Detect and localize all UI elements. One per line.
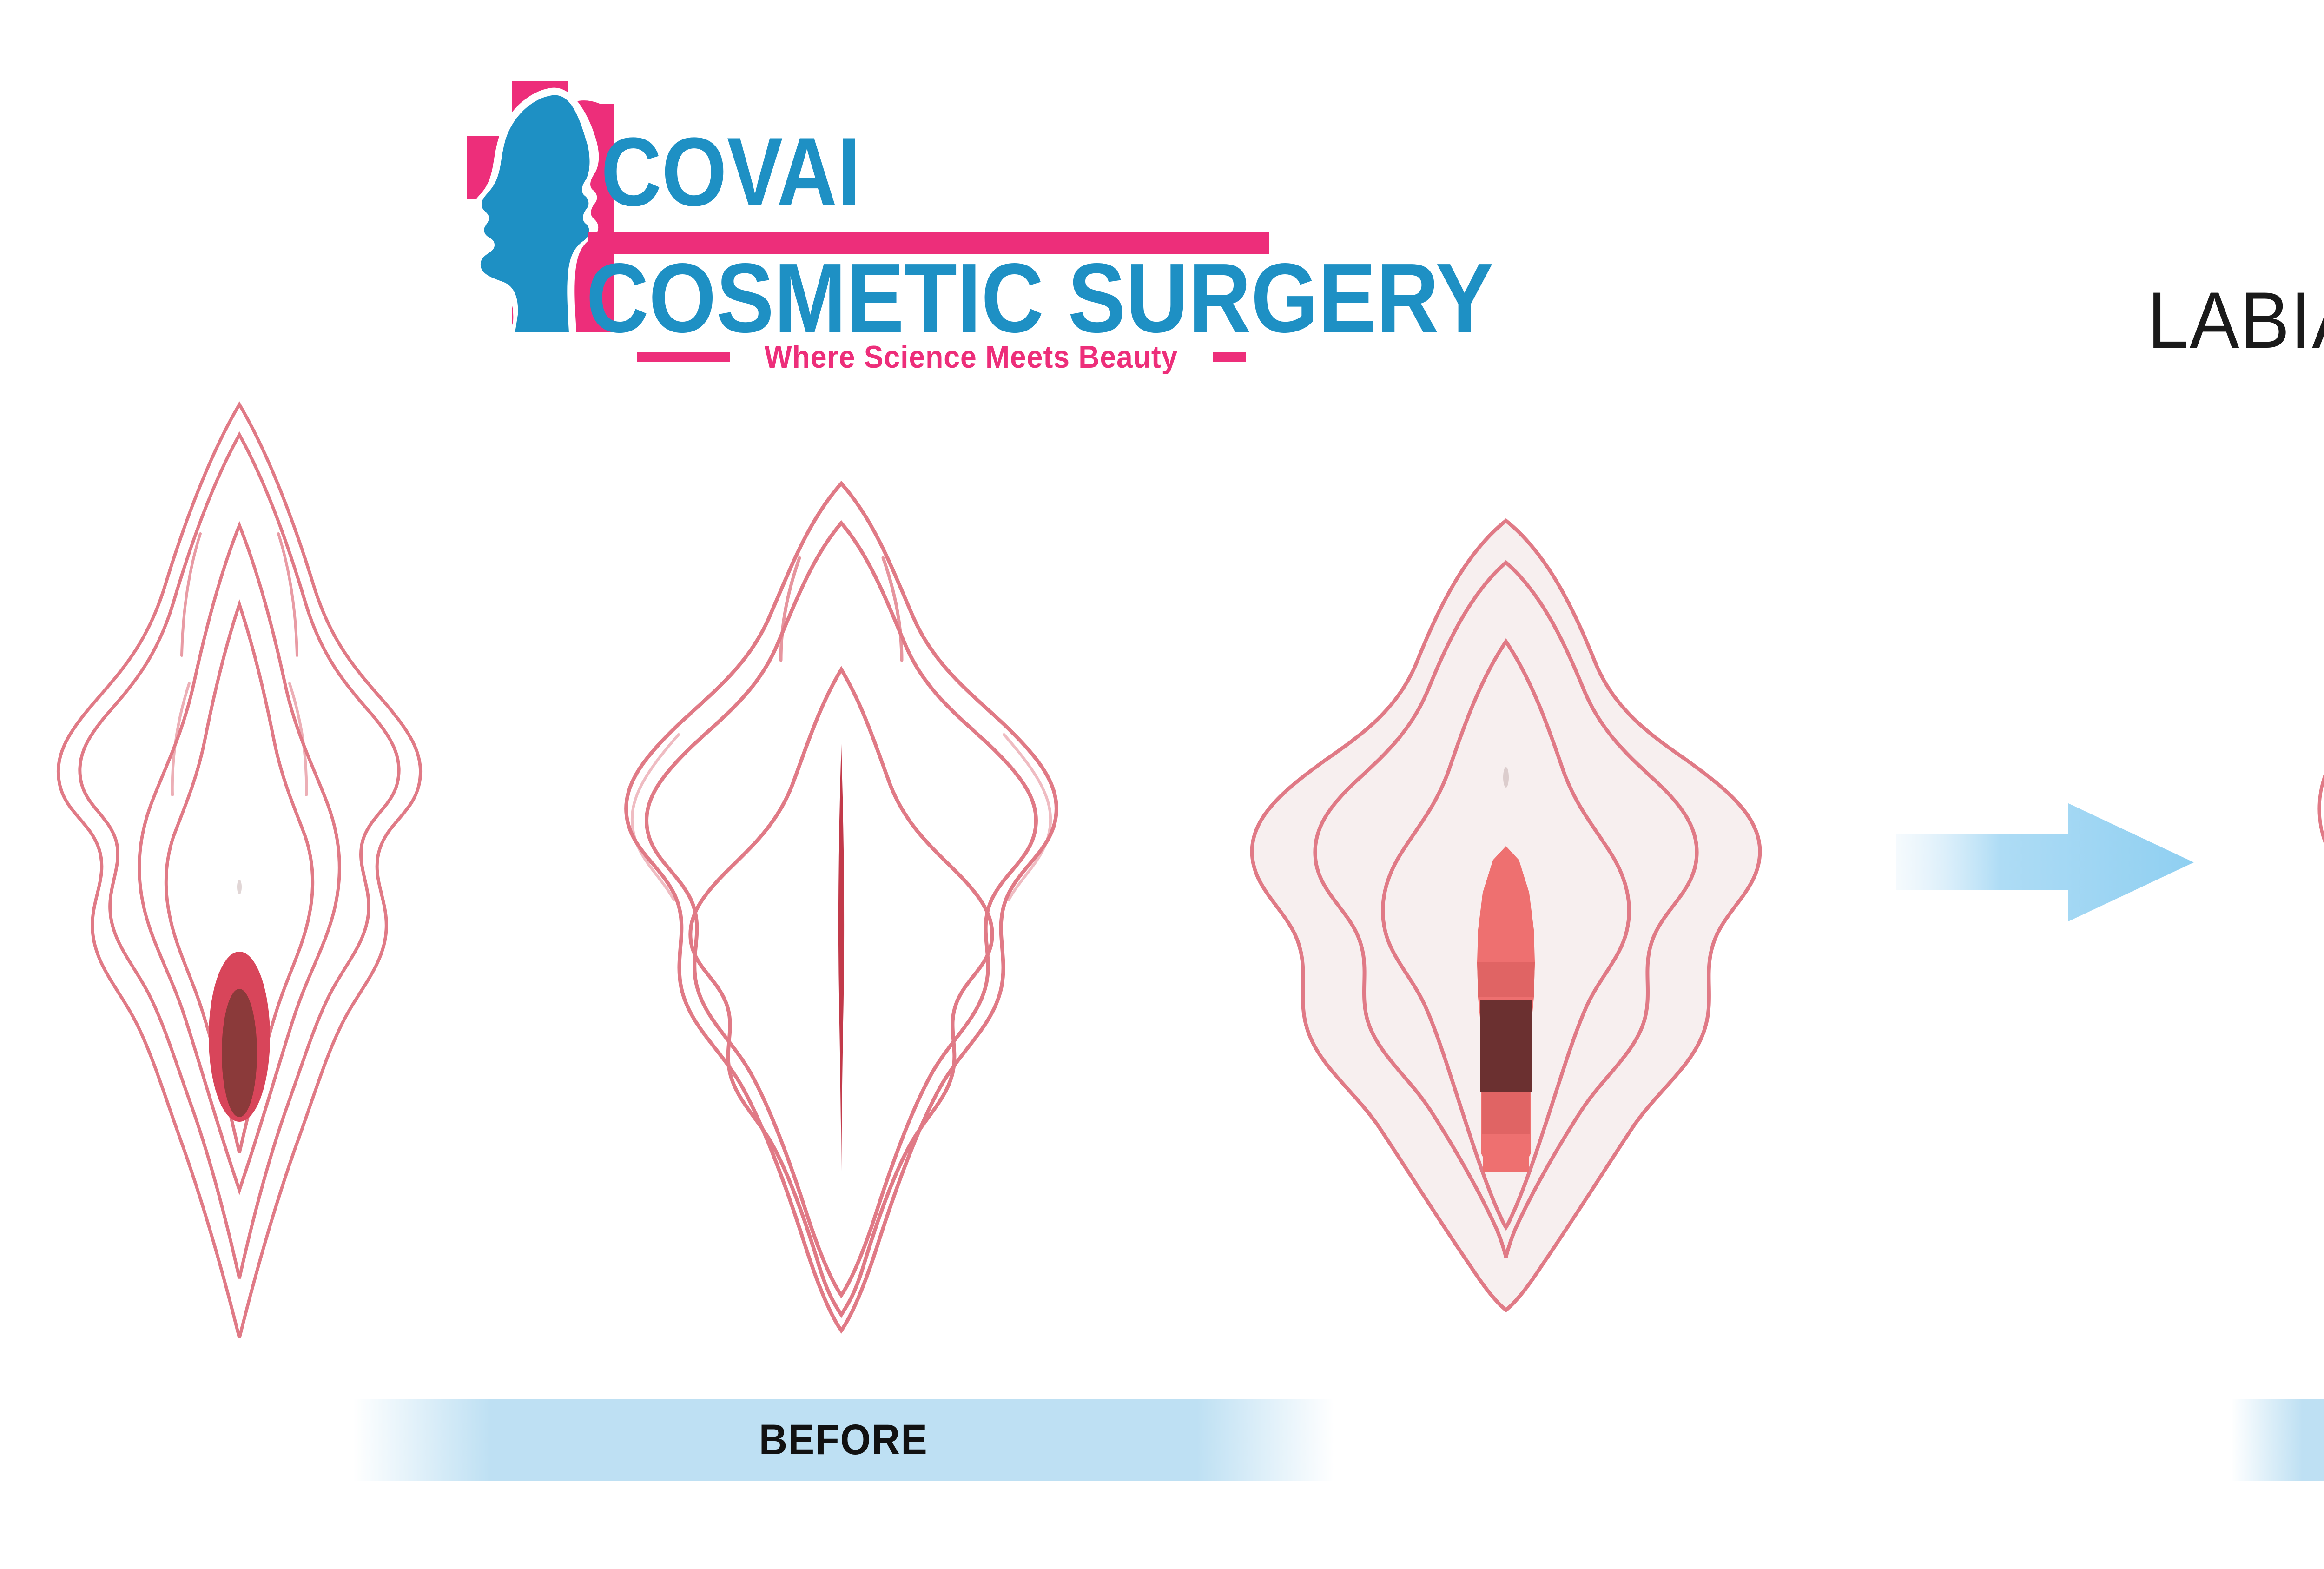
logo-name-line-1: COVAI	[601, 123, 861, 221]
before-label-text: BEFORE	[759, 1416, 928, 1464]
urethral-marker	[1503, 767, 1509, 788]
opening-inner-ellipse	[222, 989, 257, 1117]
tagline-dash-right	[1213, 352, 1246, 362]
infographic-canvas: COVAI COSMETIC SURGERY Where Science Mee…	[0, 0, 2324, 1569]
after-label-bar: AFTER	[2231, 1399, 2324, 1481]
before-after-arrow-icon	[1896, 786, 2194, 939]
tissue-excision-marking	[1477, 846, 1535, 1172]
brand-logo: COVAI COSMETIC SURGERY Where Science Mee…	[460, 70, 1329, 386]
logo-wordmark: COVAI COSMETIC SURGERY Where Science Mee…	[583, 70, 1332, 386]
figure-4-anatomy-after-result	[2268, 386, 2324, 1367]
logo-tagline-row: Where Science Meets Beauty	[597, 338, 1285, 376]
page-title: LABIAPLASTY	[2147, 274, 2324, 366]
tagline-dash-left	[637, 352, 730, 362]
figure-3-anatomy-surgical-marking	[1208, 493, 1803, 1330]
before-label-bar: BEFORE	[353, 1399, 1334, 1481]
logo-tagline: Where Science Meets Beauty	[765, 339, 1178, 375]
logo-name-line-2: COSMETIC SURGERY	[586, 249, 1493, 347]
figure-1-anatomy-before-outline	[35, 386, 444, 1362]
urethral-marker	[237, 880, 242, 894]
midline-incision-marker	[838, 744, 844, 1172]
figure-2-anatomy-incision-line	[562, 465, 1120, 1348]
